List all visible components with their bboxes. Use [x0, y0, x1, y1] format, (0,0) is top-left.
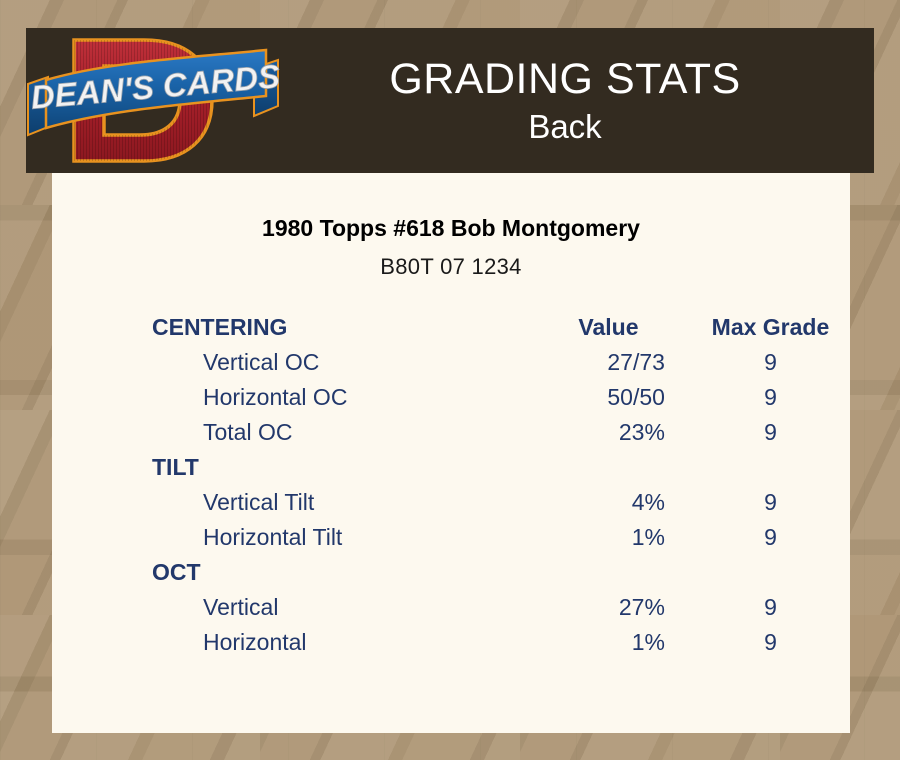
table-row: Vertical27%9: [52, 590, 850, 625]
stat-label: Vertical OC: [52, 345, 526, 380]
stat-max-grade: 9: [691, 625, 850, 660]
stat-max-grade: 9: [691, 520, 850, 555]
header-title-block: GRADING STATS Back: [286, 58, 874, 143]
grading-stats-table: CENTERINGValueMax GradeVertical OC27/739…: [52, 310, 850, 660]
stat-value: 23%: [526, 415, 691, 450]
content-panel: 1980 Topps #618 Bob Montgomery B80T 07 1…: [52, 173, 850, 733]
stat-value: 4%: [526, 485, 691, 520]
empty-cell: [526, 450, 691, 485]
section-header-oct: OCT: [52, 555, 526, 590]
page-subtitle: Back: [286, 110, 844, 143]
page-root: DEAN'S CARDS GRADING STATS Back 1980 Top…: [0, 0, 900, 760]
stat-label: Vertical: [52, 590, 526, 625]
empty-cell: [526, 555, 691, 590]
section-row: TILT: [52, 450, 850, 485]
table-row: Total OC23%9: [52, 415, 850, 450]
table-row: Vertical OC27/739: [52, 345, 850, 380]
empty-cell: [691, 450, 850, 485]
stat-value: 1%: [526, 625, 691, 660]
stat-max-grade: 9: [691, 485, 850, 520]
card-title: 1980 Topps #618 Bob Montgomery: [52, 215, 850, 242]
stat-value: 27%: [526, 590, 691, 625]
stat-label: Horizontal OC: [52, 380, 526, 415]
stat-max-grade: 9: [691, 415, 850, 450]
page-title: GRADING STATS: [286, 58, 844, 101]
stat-value: 50/50: [526, 380, 691, 415]
table-row: Horizontal1%9: [52, 625, 850, 660]
stat-label: Horizontal Tilt: [52, 520, 526, 555]
stat-label: Total OC: [52, 415, 526, 450]
header-bar: DEAN'S CARDS GRADING STATS Back: [26, 28, 874, 173]
stat-max-grade: 9: [691, 380, 850, 415]
deans-cards-logo: DEAN'S CARDS: [26, 28, 286, 173]
table-row: Horizontal OC50/509: [52, 380, 850, 415]
grading-stats-body: CENTERINGValueMax GradeVertical OC27/739…: [52, 310, 850, 660]
stat-max-grade: 9: [691, 590, 850, 625]
section-row: OCT: [52, 555, 850, 590]
stat-label: Vertical Tilt: [52, 485, 526, 520]
stat-value: 1%: [526, 520, 691, 555]
section-header-tilt: TILT: [52, 450, 526, 485]
stat-max-grade: 9: [691, 345, 850, 380]
stat-value: 27/73: [526, 345, 691, 380]
empty-cell: [691, 555, 850, 590]
section-header-centering: CENTERING: [52, 310, 526, 345]
table-row: Horizontal Tilt1%9: [52, 520, 850, 555]
column-header-max-grade: Max Grade: [691, 310, 850, 345]
column-header-value: Value: [526, 310, 691, 345]
stat-label: Horizontal: [52, 625, 526, 660]
card-id: B80T 07 1234: [52, 254, 850, 280]
table-header-row: CENTERINGValueMax Grade: [52, 310, 850, 345]
table-row: Vertical Tilt4%9: [52, 485, 850, 520]
